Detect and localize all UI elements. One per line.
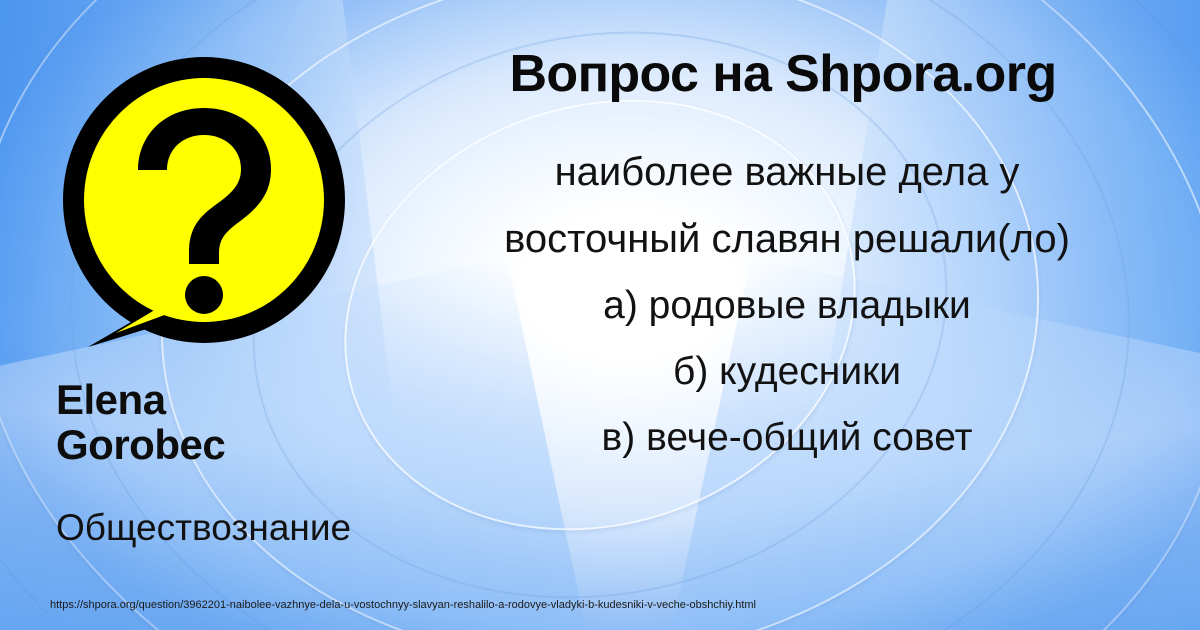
answer-option-c: в) вече-общий совет — [382, 418, 1192, 457]
answer-option-b: б) кудесники — [382, 352, 1192, 391]
question-speech-bubble-icon — [58, 52, 348, 357]
source-url-bar: https://shpora.org/question/3962201-naib… — [0, 594, 1200, 616]
question-line: восточный славян решали(ло) — [382, 219, 1192, 259]
question-body: наиболее важные дела у восточный славян … — [382, 152, 1192, 457]
source-url[interactable]: https://shpora.org/question/3962201-naib… — [50, 599, 756, 611]
left-column: Elena Gorobec Обществознание — [0, 0, 380, 630]
author-last-name: Gorobec — [56, 423, 376, 468]
answer-option-a: а) родовые владыки — [382, 286, 1192, 325]
question-share-card: Elena Gorobec Обществознание Вопрос на S… — [0, 0, 1200, 630]
subject-label: Обществознание — [56, 508, 396, 549]
question-line: наиболее важные дела у — [382, 152, 1192, 192]
page-title: Вопрос на Shpora.org — [382, 44, 1184, 104]
author-first-name: Elena — [56, 378, 376, 423]
right-column: Вопрос на Shpora.org наиболее важные дел… — [382, 0, 1200, 630]
card-content: Elena Gorobec Обществознание Вопрос на S… — [0, 0, 1200, 630]
author-name: Elena Gorobec — [56, 378, 376, 468]
